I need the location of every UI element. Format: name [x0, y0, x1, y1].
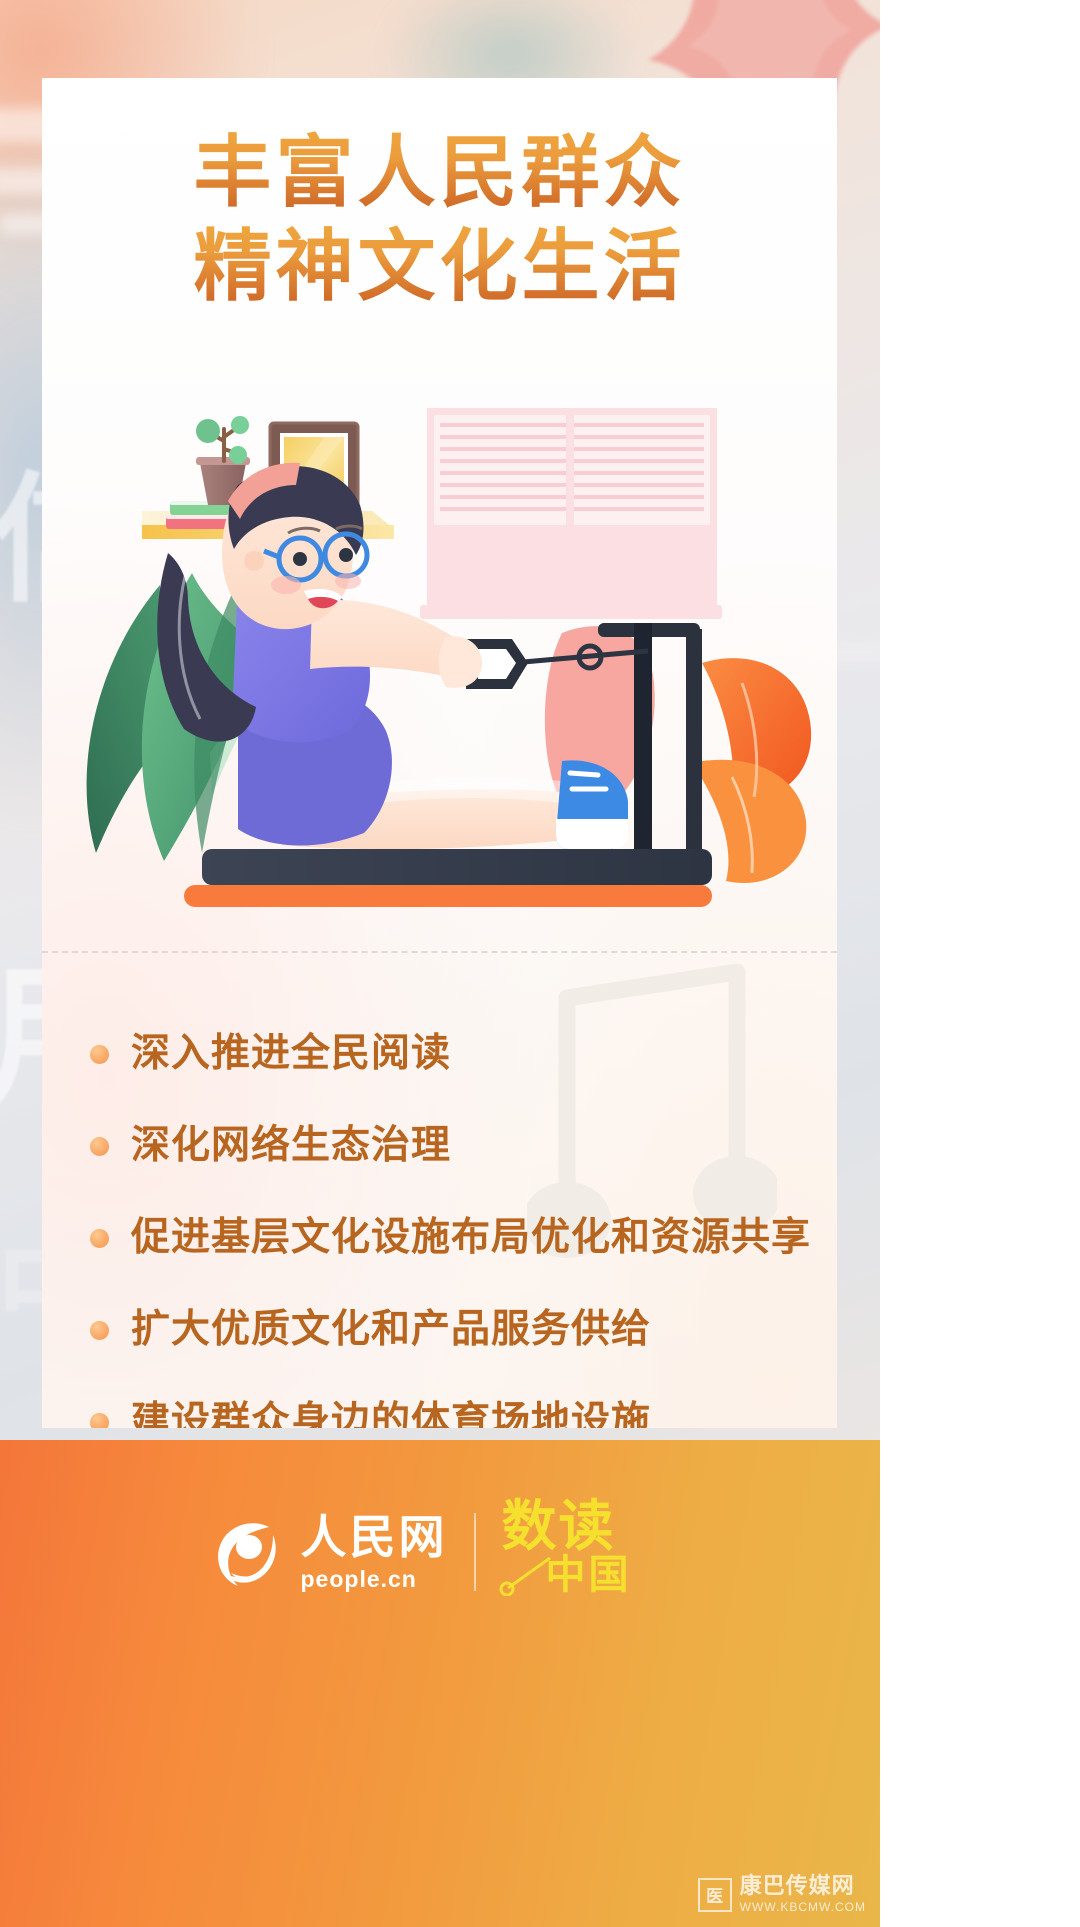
right-gutter — [880, 0, 1080, 1927]
orange-leaf-decoration — [692, 658, 811, 883]
bullet-dot-icon — [90, 1137, 109, 1156]
rowing-machine-base — [184, 849, 712, 907]
list-item[interactable]: 深入推进全民阅读 — [90, 1008, 810, 1100]
window-with-blinds-icon — [420, 408, 722, 619]
illustration-woman-rowing-machine — [42, 333, 837, 973]
site-watermark: 医 康巴传媒网 WWW.KBCMW.COM — [698, 1876, 866, 1913]
watermark-badge-icon: 医 — [698, 1878, 732, 1912]
series-title-top: 数读 — [502, 1498, 616, 1553]
watermark-name: 康巴传媒网 — [740, 1876, 866, 1898]
bullet-dot-icon — [90, 1413, 109, 1429]
series-title-bottom: 中国 — [546, 1554, 632, 1596]
bullet-list: 深入推进全民阅读 深化网络生态治理 促进基层文化设施布局优化和资源共享 扩大优质… — [90, 1008, 810, 1428]
list-item-label: 扩大优质文化和产品服务供给 — [131, 1308, 651, 1352]
content-card: 丰富人民群众 精神文化生活 — [42, 78, 837, 1428]
list-item[interactable]: 促进基层文化设施布局优化和资源共享 — [90, 1192, 810, 1284]
bullet-dot-icon — [90, 1229, 109, 1248]
footer-bar: 人民网 people.cn 数读 中国 医 康巴传媒网 WWW.KBCMW.CO… — [0, 1440, 880, 1927]
globe-swirl-icon — [209, 1515, 283, 1589]
list-item-label: 促进基层文化设施布局优化和资源共享 — [131, 1216, 811, 1260]
list-item[interactable]: 深化网络生态治理 — [90, 1100, 810, 1192]
floor-dashed-line — [42, 951, 837, 953]
footer-divider — [474, 1513, 476, 1591]
brand-name-cn: 人民网 — [301, 1512, 448, 1562]
list-item[interactable]: 扩大优质文化和产品服务供给 — [90, 1284, 810, 1376]
series-logo[interactable]: 数读 中国 — [502, 1498, 672, 1606]
bullet-dot-icon — [90, 1045, 109, 1064]
list-item-label: 建设群众身边的体育场地设施 — [131, 1400, 651, 1428]
watermark-url: WWW.KBCMW.COM — [740, 1901, 866, 1913]
title-line-2: 精神文化生活 — [42, 220, 837, 314]
people-cn-brand[interactable]: 人民网 people.cn — [209, 1512, 448, 1593]
poster-canvas: 信 用 中 丰富人民群众 精神文化生活 — [0, 0, 880, 1927]
list-item-label: 深化网络生态治理 — [131, 1124, 451, 1168]
list-item-label: 深入推进全民阅读 — [131, 1032, 451, 1076]
title-line-1: 丰富人民群众 — [42, 126, 837, 220]
brand-name-en: people.cn — [301, 1566, 417, 1593]
poster-title: 丰富人民群众 精神文化生活 — [42, 126, 837, 314]
list-item[interactable]: 建设群众身边的体育场地设施 — [90, 1376, 810, 1428]
bullet-dot-icon — [90, 1321, 109, 1340]
